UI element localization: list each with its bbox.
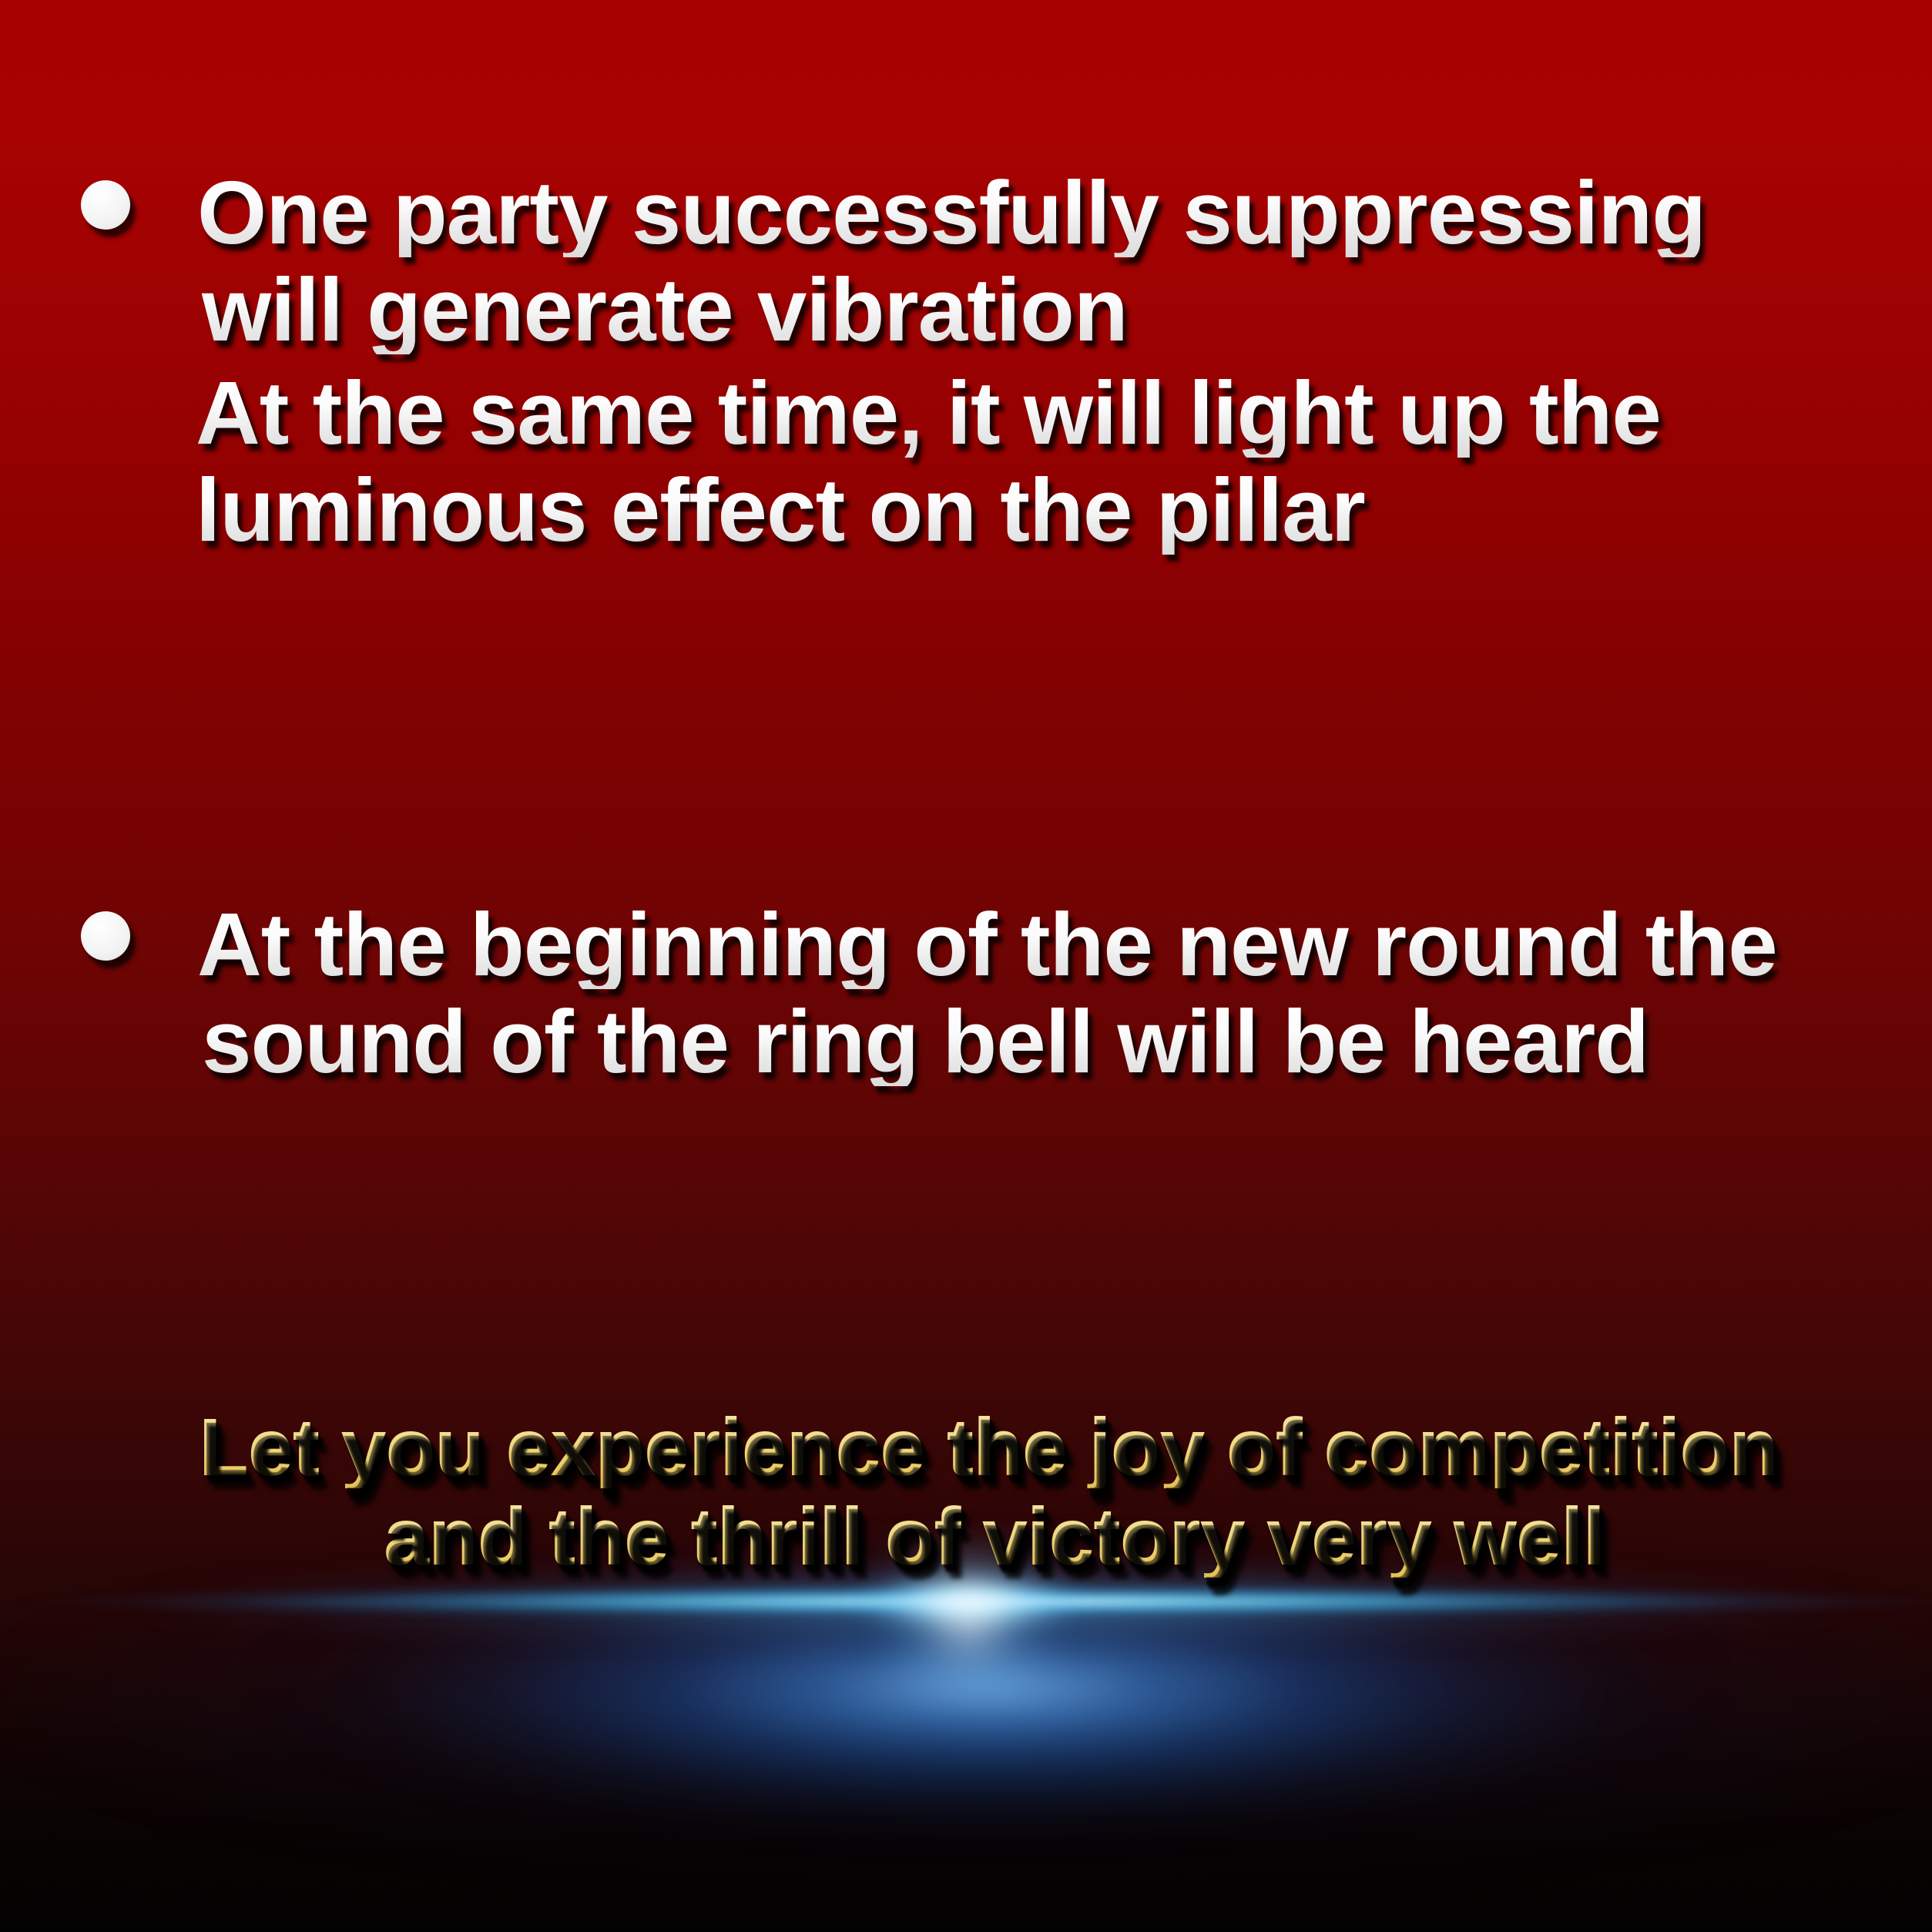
- bullet-1-line-1: One party successfully suppressing: [197, 168, 1706, 257]
- bullet-1-line-2: will generate vibration: [202, 265, 1128, 354]
- presentation-slide: One party successfully suppressing will …: [0, 0, 1932, 1932]
- bullet-marker-icon: [81, 180, 130, 230]
- bullet-1-line-4: luminous effect on the pillar: [196, 465, 1365, 555]
- tagline-line-1: Let you experience the joy of competitio…: [199, 1407, 1778, 1488]
- bullet-2-line-1: At the beginning of the new round the: [197, 900, 1777, 989]
- bullet-2-line-2: sound of the ring bell will be heard: [202, 997, 1649, 1086]
- tagline-line-2: and the thrill of victory very well: [384, 1496, 1605, 1578]
- slide-content: One party successfully suppressing will …: [0, 0, 1932, 1932]
- bullet-1-line-3: At the same time, it will light up the: [196, 368, 1661, 458]
- bullet-marker-icon: [81, 911, 130, 961]
